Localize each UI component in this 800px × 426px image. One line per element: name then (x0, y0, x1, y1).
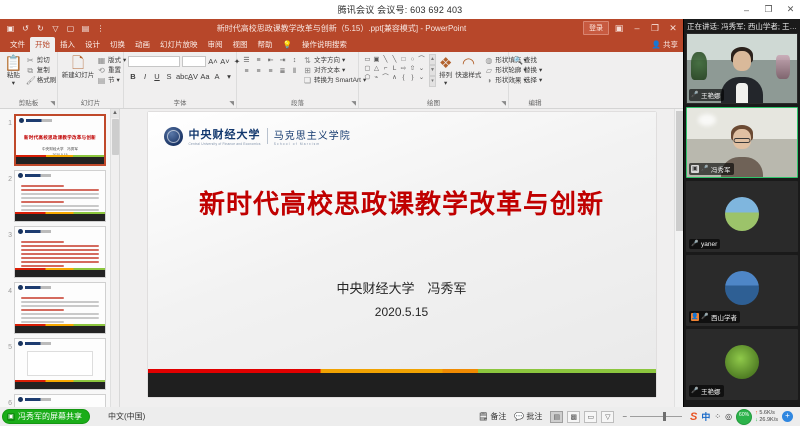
university-seal-icon (164, 127, 183, 146)
signin-button[interactable]: 登录 (583, 21, 609, 35)
powerpoint-close-icon[interactable]: ✕ (665, 23, 681, 34)
university-name-en: Central University of Finance and Econom… (189, 142, 261, 146)
slide-thumbnail-5[interactable] (14, 338, 106, 390)
format-painter-label: 格式刷 (37, 76, 57, 85)
ribbon-tabs: 文件 开始 插入 设计 切换 动画 幻灯片放映 审阅 视图 帮助 💡 操作说明搜… (0, 37, 683, 52)
find-label: 查找 (524, 56, 537, 65)
align-center-button[interactable]: ≡ (253, 67, 264, 77)
thumb-body-lines (21, 241, 99, 269)
cut-button[interactable]: ✂ 剪切 (26, 56, 57, 65)
meeting-close-icon[interactable]: ✕ (785, 4, 796, 15)
shape-brace-left-icon[interactable]: { (399, 73, 408, 82)
thumbnails-scrollbar[interactable]: ▲ (110, 109, 119, 419)
replace-icon: ⇄ (513, 66, 522, 75)
tab-file[interactable]: 文件 (5, 37, 30, 52)
replace-dropdown-icon[interactable]: ▾ (539, 66, 542, 75)
statusbar: ▣ 冯秀军的屏幕共享 中文(中国) 🗒 备注 💬 批注 ▤ ▩ ▭ ▽ − (0, 407, 800, 426)
shape-outline-icon: ▱ (484, 66, 493, 75)
current-slide[interactable]: 中央财经大学 Central University of Finance and… (148, 112, 656, 397)
decrease-indent-button[interactable]: ⇤ (265, 56, 276, 66)
shape-rounded-icon[interactable]: ▢ (363, 64, 372, 73)
comments-toggle-button[interactable]: 💬 批注 (514, 411, 542, 422)
participant-avatar-3 (725, 197, 759, 231)
notes-toggle-button[interactable]: 🗒 备注 (478, 411, 506, 422)
cut-label: 剪切 (37, 56, 50, 65)
ribbon-group-drawing: ▭ ▣ ╲ ╲ □ ○ ⌒ ▢ △ ⌐ L ⇨ ⇧ ⌄ ⬠ (359, 52, 509, 108)
thumb-image-box (27, 351, 93, 376)
thumb-footer-bar (15, 324, 105, 333)
section-label: 节 (108, 76, 115, 85)
thumb-title: 新时代高校思政课教学改革与创新 (24, 135, 96, 141)
thumbnail-number: 4 (3, 282, 12, 295)
meeting-minimize-icon[interactable]: – (741, 5, 752, 15)
thumbnail-row[interactable]: 1 新时代高校思政课教学改革与创新 中央财经大学 冯秀军 2020.5.15 (0, 112, 119, 168)
network-usage-ball: 60% (736, 409, 752, 425)
comments-icon: 💬 (514, 412, 524, 421)
align-text-icon: ⊞ (303, 66, 312, 75)
text-direction-button[interactable]: ⇅ 文字方向 ▾ (303, 56, 366, 65)
notes-toggle-label: 备注 (490, 411, 506, 422)
upload-arrow-icon: ↑ (755, 410, 758, 416)
shape-brace-right-icon[interactable]: } (408, 73, 417, 82)
format-painter-button[interactable]: 🖌 格式刷 (26, 76, 57, 85)
network-speed-widget[interactable]: 60% ↑ 5.6K/s ↓ 26.9K/s (736, 409, 778, 425)
thumbnail-number: 1 (3, 114, 12, 127)
tray-misc-icon[interactable]: ⁘ (714, 412, 721, 421)
slide-thumbnail-3[interactable] (14, 226, 106, 278)
thumb-logo (18, 173, 51, 178)
replace-label: 替换 (524, 66, 537, 75)
powerpoint-minimize-icon[interactable]: – (629, 23, 645, 33)
font-name-combo[interactable] (128, 56, 180, 67)
slide-author[interactable]: 中央财经大学 冯秀军 (148, 278, 656, 297)
mic-on-icon: 🎤 (701, 313, 709, 321)
smartart-icon: ❏ (303, 76, 312, 85)
thumbnails-scroll-up-icon[interactable]: ▲ (111, 109, 119, 118)
font-group-label: 字体 (128, 99, 232, 108)
meeting-titlebar: 腾讯会议 会议号: 603 692 403 – ❐ ✕ (0, 0, 800, 19)
select-button[interactable]: ⬚ 选择 ▾ (513, 76, 542, 85)
participant-tile-3[interactable]: 🎤 yaner (686, 181, 798, 252)
tab-view[interactable]: 视图 (228, 37, 253, 52)
clipboard-group-label: 剪贴板 (4, 99, 53, 108)
select-dropdown-icon[interactable]: ▾ (539, 76, 542, 85)
reset-icon: ⟲ (97, 66, 106, 75)
customize-qat-icon[interactable]: ⋮ (96, 24, 105, 33)
font-color-button[interactable]: A (212, 71, 222, 82)
section-icon: ▤ (97, 76, 106, 85)
network-speeds: ↑ 5.6K/s ↓ 26.9K/s (755, 410, 778, 424)
tab-insert[interactable]: 插入 (55, 37, 80, 52)
screen-share-icon: ▣ (691, 165, 699, 173)
shape-rect-icon[interactable]: ▭ (363, 55, 372, 64)
scissors-icon: ✂ (26, 56, 35, 65)
thumbnail-number: 2 (3, 170, 12, 183)
format-painter-icon: 🖌 (26, 76, 35, 85)
tab-design[interactable]: 设计 (80, 37, 105, 52)
participant-name-3: yaner (701, 241, 717, 248)
shape-l-icon[interactable]: L (390, 64, 399, 73)
shapes-scroll[interactable]: ▲ ▼ ▾ (429, 54, 436, 87)
paste-dropdown-icon[interactable]: ▾ (12, 80, 15, 88)
thumb-body-lines (21, 297, 99, 325)
shape-flow-icon[interactable]: ⌁ (372, 73, 381, 82)
bullets-button[interactable]: ☰ (241, 56, 252, 66)
thumb-logo (18, 397, 51, 402)
new-icon[interactable]: ▢ (66, 24, 75, 33)
thumbnails-scroll-thumb[interactable] (112, 119, 119, 155)
language-status[interactable]: 中文(中国) (108, 411, 145, 422)
thumbnail-number: 5 (3, 338, 12, 351)
slide-stage: 中央财经大学 Central University of Finance and… (120, 109, 683, 419)
find-button[interactable]: 🔍 查找 (513, 56, 542, 65)
tray-circle-icon[interactable]: ◎ (725, 412, 732, 421)
shape-arrow-right-icon[interactable]: ⇨ (399, 64, 408, 73)
participants-rail: 正在讲话: 冯秀军; 西山学者; 王… 🎤 王艳娜 ▣ 🎤 冯秀军 (683, 19, 800, 407)
quick-styles-icon: ◠ (462, 55, 475, 72)
zoom-control[interactable]: − (622, 412, 682, 421)
thumbnail-row[interactable]: 3 (0, 224, 119, 280)
participant-nameplate-2: ▣ 🎤 冯秀军 (689, 163, 734, 175)
participant-tile-2[interactable]: ▣ 🎤 冯秀军 (686, 107, 798, 178)
shape-fill-icon: ◍ (484, 56, 493, 65)
participant-name-5: 王艳娜 (701, 386, 721, 396)
participant-tile-1[interactable]: 🎤 王艳娜 (686, 33, 798, 104)
shape-more-icon[interactable]: ⌄ (417, 73, 426, 82)
statusbar-left: ▣ 冯秀军的屏幕共享 中文(中国) (0, 409, 145, 424)
speaking-indicator: 正在讲话: 冯秀军; 西山学者; 王… (686, 19, 798, 33)
justify-button[interactable]: ≣ (277, 67, 288, 77)
font-size-combo[interactable] (182, 56, 206, 67)
tab-slideshow[interactable]: 幻灯片放映 (155, 37, 203, 52)
zoom-out-button[interactable]: − (622, 412, 627, 421)
thumb-logo (18, 341, 51, 346)
screen-share-bar[interactable]: ▣ 冯秀军的屏幕共享 (2, 409, 90, 424)
quick-access-toolbar: ▣ ↺ ↻ ▽ ▢ ▤ ⋮ (0, 24, 105, 33)
clipboard-dialog-launcher[interactable]: ◥ (50, 100, 55, 107)
lightbulb-icon[interactable]: 💡 (278, 37, 297, 52)
ribbon-group-font: A˄ A˅ ✦ B I U S abc A̲V Aa A ▾ (124, 52, 237, 108)
upload-speed: 5.6K/s (759, 410, 775, 416)
screen-share-label: 冯秀军的屏幕共享 (18, 411, 82, 422)
shapes-more-icon[interactable]: ▾ (429, 76, 436, 87)
powerpoint-title-right: 登录 ▣ – ❐ ✕ (583, 19, 681, 37)
italic-button[interactable]: I (140, 71, 150, 82)
thumbnail-row[interactable]: 2 (0, 168, 119, 224)
tab-tell-me[interactable]: 操作说明搜索 (297, 37, 352, 52)
character-spacing-button[interactable]: A̲V (188, 71, 198, 82)
statusbar-right: 🗒 备注 💬 批注 ▤ ▩ ▭ ▽ − S 中 ⁘ ◎ (478, 409, 800, 425)
slide-date[interactable]: 2020.5.15 (148, 305, 656, 319)
shape-pentagon-icon[interactable]: ⬠ (363, 73, 372, 82)
paste-label: 粘贴 (7, 72, 20, 80)
columns-button[interactable]: ⫴ (289, 67, 300, 77)
slide-thumbnail-2[interactable] (14, 170, 106, 222)
share-person-icon: 👤 (652, 40, 661, 49)
tab-animations[interactable]: 动画 (130, 37, 155, 52)
bold-button[interactable]: B (128, 71, 138, 82)
paragraph-group-label: 段落 (241, 99, 354, 108)
ribbon: 📋 粘贴 ▾ ✂ 剪切 ⧉ 复制 � (0, 52, 683, 109)
redo-icon[interactable]: ↻ (36, 24, 45, 33)
underline-button[interactable]: U (152, 71, 162, 82)
shape-circle-icon[interactable]: ○ (408, 55, 417, 64)
participant-avatar-4 (725, 271, 759, 305)
thumbnail-row[interactable]: 5 (0, 336, 119, 392)
increase-font-size-button[interactable]: A˄ (208, 56, 218, 67)
shape-elbow-icon[interactable]: ⌐ (381, 64, 390, 73)
section-button[interactable]: ▤ 节 ▾ (97, 76, 126, 85)
ribbon-group-paragraph: ☰ ≡ ⇤ ⇥ ↕ ≡ ≡ ≡ ≣ ⫴ ⇅ 文字方向 (237, 52, 359, 108)
logo-divider (267, 128, 268, 144)
shapes-gallery[interactable]: ▭ ▣ ╲ ╲ □ ○ ⌒ ▢ △ ⌐ L ⇨ ⇧ ⌄ ⬠ (363, 54, 426, 82)
shape-textbox-icon[interactable]: ▣ (372, 55, 381, 64)
meeting-restore-icon[interactable]: ❐ (763, 4, 774, 15)
mic-on-icon: 🎤 (701, 165, 709, 173)
thumb-footer-bar (16, 155, 104, 164)
open-icon[interactable]: ▤ (81, 24, 90, 33)
align-left-button[interactable]: ≡ (241, 67, 252, 77)
thumb-footer-bar (15, 268, 105, 277)
reset-button[interactable]: ⟲ 重置 (97, 66, 126, 75)
copy-icon: ⧉ (26, 66, 35, 75)
ime-mode-icon[interactable]: 中 (701, 410, 710, 423)
network-usage-value: 60% (739, 412, 749, 418)
section-dropdown-icon[interactable]: ▾ (117, 76, 120, 85)
arrange-label: 排列 (439, 72, 452, 80)
arrange-button[interactable]: ❖ 排列 ▾ (439, 54, 452, 87)
school-name-cn: 马克思主义学院 (274, 127, 351, 142)
line-spacing-button[interactable]: ↕ (289, 56, 300, 66)
slide-scrollbar[interactable] (674, 109, 683, 419)
copy-button[interactable]: ⧉ 复制 (26, 66, 57, 75)
shape-arrow-up-icon[interactable]: ⇧ (408, 64, 417, 73)
shape-curve-icon[interactable]: ⌒ (417, 55, 426, 64)
font-color-dropdown-icon[interactable]: ▾ (224, 71, 234, 82)
paste-button[interactable]: 📋 粘贴 ▾ (4, 54, 23, 87)
participant-name-2: 冯秀军 (711, 164, 731, 174)
ribbon-group-editing: 🔍 查找 ⇄ 替换 ▾ ⬚ 选择 ▾ (509, 52, 561, 108)
participant-avatar-5 (725, 345, 759, 379)
select-label: 选择 (524, 76, 537, 85)
tab-review[interactable]: 审阅 (203, 37, 228, 52)
thumbnail-number: 6 (3, 394, 12, 407)
quick-styles-button[interactable]: ◠ 快速样式 (455, 54, 481, 80)
align-right-button[interactable]: ≡ (265, 67, 276, 77)
text-direction-label: 文字方向 (314, 56, 340, 65)
paste-icon: 📋 (4, 55, 23, 72)
tab-home[interactable]: 开始 (30, 37, 55, 52)
view-buttons: ▤ ▩ ▭ ▽ (550, 411, 614, 423)
editing-group-label: 编辑 (513, 99, 557, 108)
normal-view-button[interactable]: ▤ (550, 411, 563, 423)
thumb-body-lines (21, 185, 99, 213)
shadow-button[interactable]: S (164, 71, 174, 82)
participant-nameplate-5: 🎤 王艳娜 (689, 385, 724, 397)
font-dialog-launcher[interactable]: ◥ (229, 100, 234, 107)
search-icon: 🔍 (513, 56, 522, 65)
decrease-font-size-button[interactable]: A˅ (220, 56, 230, 67)
mic-on-icon: 🎤 (691, 91, 699, 99)
slides-group-label: 幻灯片 (62, 99, 119, 108)
shapes-scroll-up-icon[interactable]: ▲ (429, 54, 436, 65)
screen-share-icon: ▣ (7, 413, 15, 421)
notes-icon: 🗒 (478, 412, 488, 421)
ribbon-group-clipboard: 📋 粘贴 ▾ ✂ 剪切 ⧉ 复制 � (0, 52, 58, 108)
paragraph-dialog-launcher[interactable]: ◥ (351, 100, 356, 107)
zoom-slider-handle[interactable] (663, 412, 666, 421)
slide-sorter-view-button[interactable]: ▩ (567, 411, 580, 423)
align-text-dropdown-icon[interactable]: ▾ (342, 66, 345, 75)
layout-label: 版式 (108, 56, 121, 65)
meeting-window-controls: – ❐ ✕ (741, 0, 796, 19)
participant-nameplate-3: 🎤 yaner (689, 239, 720, 249)
participant-name-4: 西山学者 (711, 312, 737, 322)
layout-button[interactable]: ▦ 版式 ▾ (97, 56, 126, 65)
university-name-cn: 中央财经大学 (189, 126, 261, 142)
participant-nameplate-4: 👤 🎤 西山学者 (689, 311, 740, 323)
reset-label: 重置 (108, 66, 121, 75)
meeting-title: 腾讯会议 会议号: 603 692 403 (338, 3, 463, 16)
shape-arrow-icon[interactable]: ╲ (390, 55, 399, 64)
comments-toggle-label: 批注 (526, 411, 542, 422)
system-tray: S 中 ⁘ ◎ 60% ↑ 5.6K/s ↓ 26.9K/s + (690, 409, 796, 425)
drawing-group-label: 绘图 (363, 99, 504, 108)
school-name-en: School of Marxism (274, 142, 351, 146)
new-slide-button[interactable]: 🗋 新建幻灯片 (62, 54, 94, 80)
select-icon: ⬚ (513, 76, 522, 85)
convert-smartart-label: 转换为 SmartArt (314, 76, 361, 85)
slide-thumbnail-4[interactable] (14, 282, 106, 334)
paragraph-buttons: ☰ ≡ ⇤ ⇥ ↕ ≡ ≡ ≡ ≣ ⫴ (241, 54, 300, 77)
copy-label: 复制 (37, 66, 50, 75)
convert-smartart-button[interactable]: ❏ 转换为 SmartArt ▾ (303, 76, 366, 85)
thumb-logo (18, 229, 51, 234)
university-logo: 中央财经大学 Central University of Finance and… (164, 126, 351, 146)
screen-root: 腾讯会议 会议号: 603 692 403 – ❐ ✕ ▣ ↺ ↻ ▽ ▢ ▤ … (0, 0, 800, 426)
host-icon: 👤 (691, 313, 699, 321)
slide-footer-bar (148, 369, 656, 397)
thumb-logo (18, 285, 51, 290)
thumb-footer-bar (15, 212, 105, 221)
shape-effects-icon: ◑ (484, 76, 493, 85)
thumb-logo (19, 118, 52, 123)
slide-thumbnails-panel[interactable]: 1 新时代高校思政课教学改革与创新 中央财经大学 冯秀军 2020.5.15 2 (0, 109, 120, 419)
mic-off-icon: 🎤 (691, 240, 699, 248)
new-slide-icon: 🗋 (72, 55, 84, 72)
tab-transitions[interactable]: 切换 (105, 37, 130, 52)
participant-name-1: 王艳娜 (701, 90, 721, 100)
sogou-ime-icon[interactable]: S (690, 411, 697, 423)
tray-expand-icon[interactable]: + (782, 411, 793, 422)
participant-tile-4[interactable]: 👤 🎤 西山学者 (686, 255, 798, 326)
drawing-dialog-launcher[interactable]: ◥ (501, 100, 506, 107)
participant-nameplate-1: 🎤 王艳娜 (689, 89, 724, 101)
slideshow-view-button[interactable]: ▽ (601, 411, 614, 423)
undo-icon[interactable]: ↺ (21, 24, 30, 33)
align-text-label: 对齐文本 (314, 66, 340, 75)
new-slide-label: 新建幻灯片 (62, 72, 95, 80)
slide-thumbnail-1[interactable]: 新时代高校思政课教学改革与创新 中央财经大学 冯秀军 2020.5.15 (14, 114, 106, 166)
share-label: 共享 (663, 40, 678, 49)
shape-square-icon[interactable]: □ (399, 55, 408, 64)
numbering-button[interactable]: ≡ (253, 56, 264, 66)
thumbnail-number: 3 (3, 226, 12, 239)
ribbon-group-slides: 🗋 新建幻灯片 ▦ 版式 ▾ ⟲ 重置 (58, 52, 124, 108)
text-direction-icon: ⇅ (303, 56, 312, 65)
work-area: 1 新时代高校思政课教学改革与创新 中央财经大学 冯秀军 2020.5.15 2 (0, 109, 683, 419)
shapes-scroll-down-icon[interactable]: ▼ (429, 65, 436, 76)
align-text-button[interactable]: ⊞ 对齐文本 ▾ (303, 66, 366, 75)
strikethrough-button[interactable]: abc (176, 71, 186, 82)
arrange-dropdown-icon[interactable]: ▾ (444, 80, 447, 88)
shape-wedge-icon[interactable]: ∧ (390, 73, 399, 82)
tab-help[interactable]: 帮助 (253, 37, 278, 52)
reading-view-button[interactable]: ▭ (584, 411, 597, 423)
share-button[interactable]: 👤 共享 (652, 39, 678, 50)
shape-line-icon[interactable]: ╲ (381, 55, 390, 64)
slide-scroll-thumb[interactable] (676, 111, 683, 231)
zoom-slider[interactable] (630, 416, 682, 417)
powerpoint-titlebar: ▣ ↺ ↻ ▽ ▢ ▤ ⋮ 新时代高校思政课教学改革与创新（5.15）.ppt[… (0, 19, 683, 37)
quick-styles-label: 快速样式 (455, 72, 481, 80)
thumb-author: 中央财经大学 冯秀军 (16, 147, 104, 152)
arrange-icon: ❖ (439, 55, 452, 72)
slide-title[interactable]: 新时代高校思政课教学改革与创新 (148, 184, 656, 221)
save-icon[interactable]: ▣ (6, 24, 15, 33)
shape-arc-icon[interactable]: ⌒ (381, 73, 390, 82)
ribbon-display-options-icon[interactable]: ▣ (611, 23, 627, 34)
participant-tile-5[interactable]: 🎤 王艳娜 (686, 329, 798, 400)
powerpoint-window: ▣ ↺ ↻ ▽ ▢ ▤ ⋮ 新时代高校思政课教学改革与创新（5.15）.ppt[… (0, 19, 683, 419)
shape-chevron-icon[interactable]: ⌄ (417, 64, 426, 73)
shape-triangle-icon[interactable]: △ (372, 64, 381, 73)
download-speed: 26.9K/s (759, 417, 778, 423)
increase-indent-button[interactable]: ⇥ (277, 56, 288, 66)
thumb-footer-bar (15, 380, 105, 389)
powerpoint-restore-icon[interactable]: ❐ (647, 23, 663, 34)
replace-button[interactable]: ⇄ 替换 ▾ (513, 66, 542, 75)
download-arrow-icon: ↓ (755, 417, 758, 423)
mic-off-icon: 🎤 (691, 387, 699, 395)
text-direction-dropdown-icon[interactable]: ▾ (342, 56, 345, 65)
thumbnail-row[interactable]: 4 (0, 280, 119, 336)
change-case-button[interactable]: Aa (200, 71, 210, 82)
layout-icon: ▦ (97, 56, 106, 65)
present-icon[interactable]: ▽ (51, 24, 60, 33)
